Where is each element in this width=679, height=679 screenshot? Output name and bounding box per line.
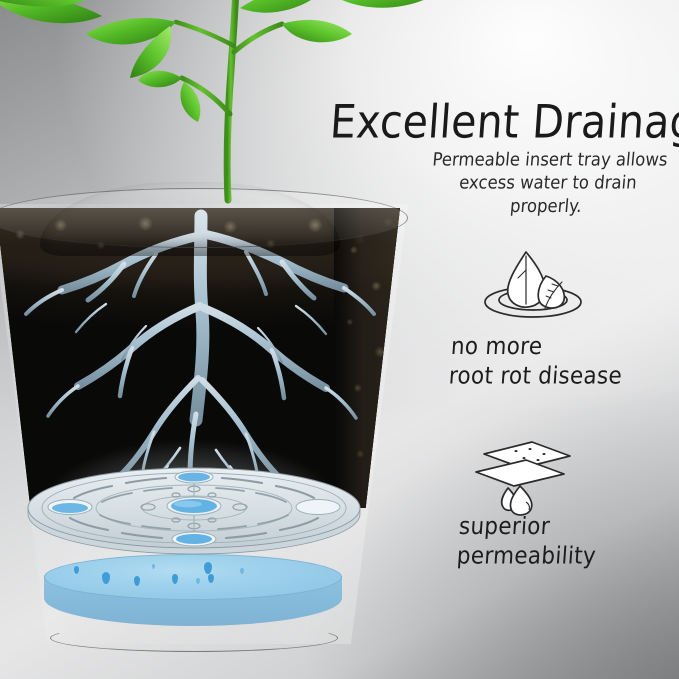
page-title: Excellent Drainage [328,96,678,148]
product-infographic: Excellent Drainage Permeable insert tray… [0,0,679,679]
feature-root-rot-label: no more root rot disease [448,332,625,391]
page-subtitle: Permeable insert tray allows excess wate… [419,148,677,217]
water-reservoir [44,554,342,642]
water-surface [44,554,342,600]
pot-bottom-edge [50,624,338,652]
feature-permeability-label: superior permeability [456,512,599,571]
stacked-perforated-sheets-with-droplets-icon [460,436,580,508]
clear-pot-assembly [0,186,408,656]
feature-permeability: superior permeability [452,436,599,566]
feature-root-rot: no more root rot disease [452,244,625,386]
leaf-on-saucer-icon [474,244,594,326]
